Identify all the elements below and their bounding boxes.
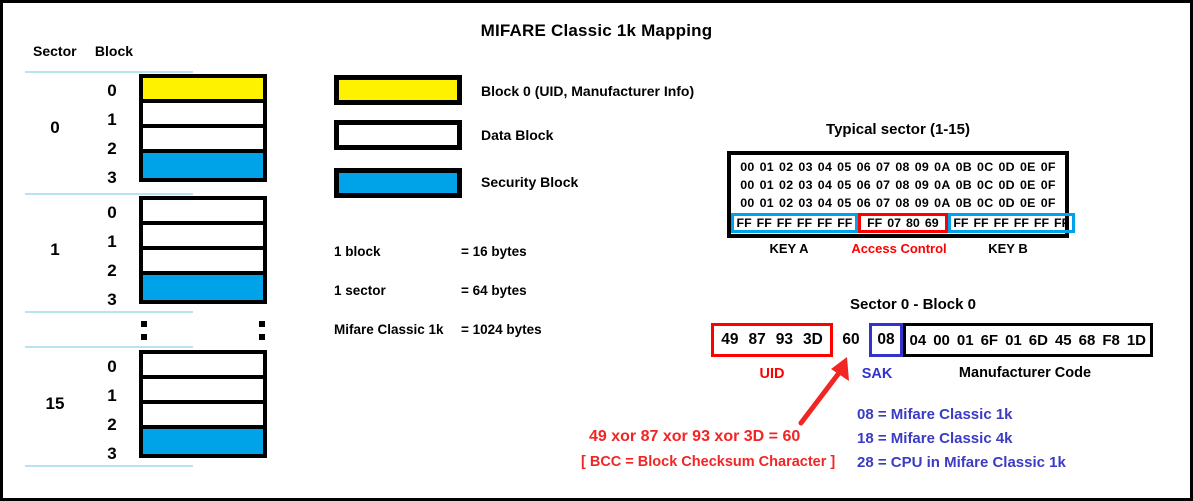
typical-sector-title: Typical sector (1-15) bbox=[728, 121, 1068, 138]
hex-byte: 04 bbox=[906, 332, 930, 349]
caption-uid: UID bbox=[711, 366, 833, 382]
legend-swatch-data bbox=[334, 120, 462, 150]
legend-label-security: Security Block bbox=[481, 174, 578, 190]
block-number: 2 bbox=[99, 261, 125, 281]
hex-byte: 04 bbox=[815, 160, 834, 174]
block-cell-data bbox=[143, 225, 263, 250]
sector-0-block-stack bbox=[139, 74, 267, 182]
block-number: 0 bbox=[99, 357, 125, 377]
sector-label: 1 bbox=[25, 240, 85, 260]
block-number: 1 bbox=[99, 386, 125, 406]
sector-15-block-stack bbox=[139, 350, 267, 458]
size-value-block: = 16 bytes bbox=[461, 244, 527, 259]
hex-byte: 00 bbox=[930, 332, 954, 349]
bcc-byte: 60 bbox=[833, 323, 869, 357]
hex-byte: FF bbox=[951, 216, 971, 230]
block-number: 3 bbox=[99, 168, 125, 188]
ellipsis-icon bbox=[141, 321, 147, 347]
hex-byte: 80 bbox=[904, 216, 923, 230]
hex-byte: 0E bbox=[1017, 196, 1038, 210]
hex-byte: 0C bbox=[975, 196, 996, 210]
block-number: 2 bbox=[99, 139, 125, 159]
hex-byte: 09 bbox=[912, 196, 931, 210]
hex-byte: FF bbox=[754, 216, 774, 230]
caption-key-b: KEY B bbox=[947, 241, 1069, 256]
hex-byte: 03 bbox=[796, 178, 815, 192]
hex-byte: 0A bbox=[932, 160, 953, 174]
hex-byte: 0B bbox=[953, 178, 974, 192]
hex-byte: 49 bbox=[716, 331, 743, 349]
hex-byte: 08 bbox=[893, 196, 912, 210]
manufacturer-bytes: 0400016F016D4568F81D bbox=[903, 323, 1153, 357]
page-title: MIFARE Classic 1k Mapping bbox=[3, 21, 1190, 41]
sector-label: 0 bbox=[25, 118, 85, 138]
block-cell-data bbox=[143, 200, 263, 225]
size-name-sector: 1 sector bbox=[334, 283, 386, 298]
hex-byte: 0A bbox=[932, 196, 953, 210]
hex-byte: 0F bbox=[1038, 196, 1058, 210]
sector-1-block-stack bbox=[139, 196, 267, 304]
caption-key-a: KEY A bbox=[727, 241, 851, 256]
hex-byte: 01 bbox=[953, 332, 977, 349]
sak-byte: 08 bbox=[869, 323, 903, 357]
hex-byte: 09 bbox=[912, 178, 931, 192]
block-number: 2 bbox=[99, 415, 125, 435]
size-name-block: 1 block bbox=[334, 244, 381, 259]
hex-byte: FF bbox=[1031, 216, 1051, 230]
typical-sector-table: 000102030405060708090A0B0C0D0E0F 0001020… bbox=[727, 151, 1069, 238]
hex-byte: 6D bbox=[1025, 332, 1051, 349]
hex-byte: FF bbox=[835, 216, 855, 230]
diagram-canvas: MIFARE Classic 1k Mapping Sector Block 0… bbox=[0, 0, 1193, 501]
block-number: 0 bbox=[99, 81, 125, 101]
hex-byte: 06 bbox=[854, 196, 873, 210]
size-value-sector: = 64 bytes bbox=[461, 283, 527, 298]
hex-byte: 02 bbox=[777, 196, 796, 210]
block-cell-security bbox=[143, 153, 263, 178]
hex-byte: 0B bbox=[953, 196, 974, 210]
hex-byte: 0C bbox=[975, 160, 996, 174]
key-a-bytes: FFFFFFFFFFFF bbox=[731, 213, 858, 233]
block-cell-data bbox=[143, 250, 263, 275]
header-block: Block bbox=[95, 44, 133, 58]
hex-byte: 45 bbox=[1051, 332, 1075, 349]
block-cell-data bbox=[143, 103, 263, 128]
hex-byte: 06 bbox=[854, 160, 873, 174]
hex-byte: 05 bbox=[835, 196, 854, 210]
hex-byte: 0E bbox=[1017, 178, 1038, 192]
block-cell-manufacturer bbox=[143, 78, 263, 103]
hex-byte: 07 bbox=[885, 216, 904, 230]
table-row: 000102030405060708090A0B0C0D0E0F bbox=[731, 194, 1065, 212]
legend-label-data: Data Block bbox=[481, 127, 553, 143]
hex-byte: 0C bbox=[975, 178, 996, 192]
hex-byte: 04 bbox=[815, 178, 834, 192]
block-cell-data bbox=[143, 379, 263, 404]
hex-byte: 07 bbox=[873, 160, 892, 174]
hex-byte: 01 bbox=[757, 196, 776, 210]
size-name-card: Mifare Classic 1k bbox=[334, 322, 444, 337]
hex-byte: 00 bbox=[738, 160, 757, 174]
hex-byte: 93 bbox=[771, 331, 798, 349]
hex-byte: 06 bbox=[854, 178, 873, 192]
hex-byte: 00 bbox=[738, 196, 757, 210]
block-cell-data bbox=[143, 404, 263, 429]
hex-byte: 03 bbox=[796, 160, 815, 174]
hex-byte: 0E bbox=[1017, 160, 1038, 174]
block-cell-data bbox=[143, 354, 263, 379]
hex-byte: FF bbox=[734, 216, 754, 230]
hex-byte: 0D bbox=[996, 160, 1017, 174]
hex-byte: 04 bbox=[815, 196, 834, 210]
hex-byte: FF bbox=[991, 216, 1011, 230]
size-value-card: = 1024 bytes bbox=[461, 322, 542, 337]
block-cell-data bbox=[143, 128, 263, 153]
block-number: 1 bbox=[99, 110, 125, 130]
header-sector: Sector bbox=[33, 44, 91, 58]
block-number: 3 bbox=[99, 444, 125, 464]
hex-byte: 01 bbox=[757, 160, 776, 174]
hex-byte: FF bbox=[815, 216, 835, 230]
hex-byte: 3D bbox=[798, 331, 828, 349]
access-control-bytes: FF078069 bbox=[858, 213, 948, 233]
hex-byte: FF bbox=[865, 216, 885, 230]
caption-manufacturer-code: Manufacturer Code bbox=[903, 365, 1147, 381]
mapping-column-headers: Sector Block bbox=[33, 44, 133, 58]
hex-byte: 05 bbox=[835, 160, 854, 174]
hex-byte: 0D bbox=[996, 178, 1017, 192]
legend-swatch-manufacturer bbox=[334, 75, 462, 105]
legend-label-manufacturer: Block 0 (UID, Manufacturer Info) bbox=[481, 83, 694, 99]
sector-separator bbox=[25, 465, 193, 467]
hex-byte: 01 bbox=[1002, 332, 1026, 349]
hex-byte: 1D bbox=[1123, 332, 1149, 349]
hex-byte: 07 bbox=[873, 196, 892, 210]
hex-byte: 03 bbox=[796, 196, 815, 210]
block-cell-security bbox=[143, 429, 263, 454]
key-b-bytes: FFFFFFFFFFFF bbox=[948, 213, 1075, 233]
ellipsis-icon bbox=[259, 321, 265, 347]
hex-byte: FF bbox=[971, 216, 991, 230]
hex-byte: 07 bbox=[873, 178, 892, 192]
hex-byte: 6F bbox=[977, 332, 1002, 349]
hex-byte: FF bbox=[794, 216, 814, 230]
block-cell-security bbox=[143, 275, 263, 300]
hex-byte: FF bbox=[1052, 216, 1072, 230]
sector-separator bbox=[25, 346, 193, 348]
sector-separator bbox=[25, 71, 193, 73]
hex-byte: 68 bbox=[1075, 332, 1099, 349]
table-row: 000102030405060708090A0B0C0D0E0F bbox=[731, 158, 1065, 176]
hex-byte: 02 bbox=[777, 160, 796, 174]
bcc-description: [ BCC = Block Checksum Character ] bbox=[581, 454, 835, 470]
sector-trailer-row: FFFFFFFFFFFF FF078069 FFFFFFFFFFFF bbox=[731, 213, 1065, 233]
hex-byte: F8 bbox=[1099, 332, 1124, 349]
hex-byte: 01 bbox=[757, 178, 776, 192]
hex-byte: FF bbox=[1011, 216, 1031, 230]
caption-sak: SAK bbox=[851, 366, 903, 382]
hex-byte: 69 bbox=[922, 216, 941, 230]
legend-swatch-security bbox=[334, 168, 462, 198]
sak-value-1k: 08 = Mifare Classic 1k bbox=[857, 406, 1013, 423]
sector-label: 15 bbox=[25, 394, 85, 414]
block-number: 1 bbox=[99, 232, 125, 252]
hex-byte: 0F bbox=[1038, 178, 1058, 192]
hex-byte: 08 bbox=[893, 178, 912, 192]
hex-byte: 00 bbox=[738, 178, 757, 192]
hex-byte: 60 bbox=[837, 331, 864, 349]
hex-byte: 0D bbox=[996, 196, 1017, 210]
sak-value-cpu: 28 = CPU in Mifare Classic 1k bbox=[857, 454, 1066, 471]
bcc-equation: 49 xor 87 xor 93 xor 3D = 60 bbox=[589, 428, 800, 446]
caption-access-control: Access Control bbox=[851, 241, 947, 256]
sector0-block0-bytes: 4987933D 60 08 0400016F016D4568F81D bbox=[711, 323, 1153, 357]
block-number: 0 bbox=[99, 203, 125, 223]
hex-byte: 09 bbox=[912, 160, 931, 174]
hex-byte: 0A bbox=[932, 178, 953, 192]
hex-byte: 08 bbox=[872, 331, 899, 349]
hex-byte: 0F bbox=[1038, 160, 1058, 174]
hex-byte: FF bbox=[774, 216, 794, 230]
block-number: 3 bbox=[99, 290, 125, 310]
hex-byte: 0B bbox=[953, 160, 974, 174]
hex-byte: 08 bbox=[893, 160, 912, 174]
hex-byte: 87 bbox=[743, 331, 770, 349]
uid-bytes: 4987933D bbox=[711, 323, 833, 357]
sector0-block0-title: Sector 0 - Block 0 bbox=[703, 296, 1123, 313]
table-row: 000102030405060708090A0B0C0D0E0F bbox=[731, 176, 1065, 194]
sector-separator bbox=[25, 193, 193, 195]
sak-value-4k: 18 = Mifare Classic 4k bbox=[857, 430, 1013, 447]
sector-separator bbox=[25, 311, 193, 313]
hex-byte: 02 bbox=[777, 178, 796, 192]
hex-byte: 05 bbox=[835, 178, 854, 192]
